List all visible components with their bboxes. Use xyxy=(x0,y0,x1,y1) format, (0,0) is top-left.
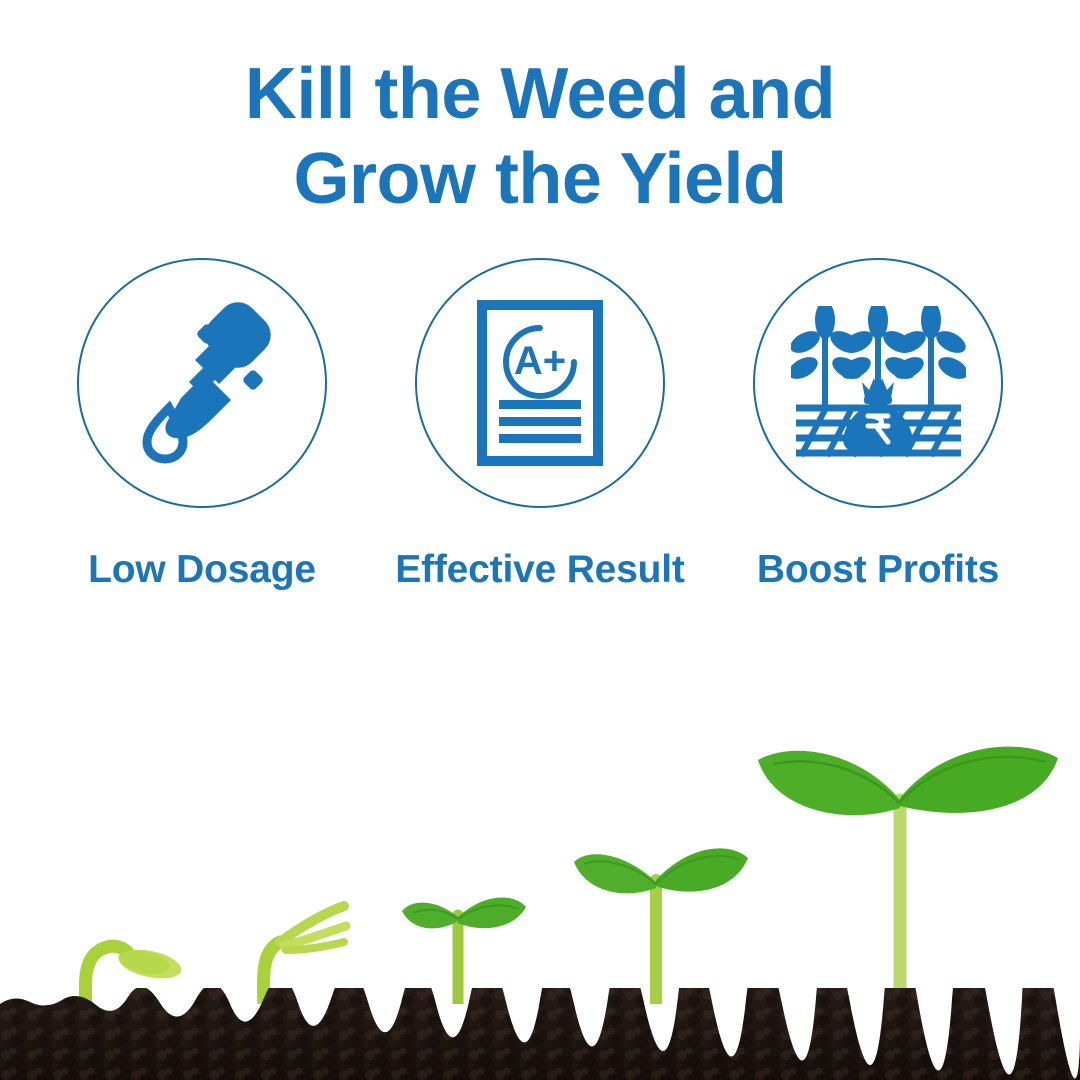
headline-line-1: Kill the Weed and xyxy=(0,52,1080,137)
feature-boost-profits[interactable]: Boost Profits xyxy=(728,258,1028,589)
sprout-stage-4 xyxy=(560,804,760,1004)
page-title: Kill the Weed and Grow the Yield xyxy=(0,52,1080,222)
feature-label-effective-result: Effective Result xyxy=(395,550,684,589)
sprout-stage-5 xyxy=(740,714,1070,1004)
seedling-growth-photo xyxy=(0,680,1080,1080)
feature-low-dosage[interactable]: Low Dosage xyxy=(52,258,352,589)
soil-band xyxy=(0,988,1080,1080)
crops-money-bag-icon xyxy=(791,306,966,461)
sprout-stage-3 xyxy=(392,859,542,1004)
feature-label-boost-profits: Boost Profits xyxy=(757,550,999,589)
feature-row: Low Dosage A+ Effective Re xyxy=(0,258,1080,589)
feature-label-low-dosage: Low Dosage xyxy=(88,550,316,589)
feature-effective-result[interactable]: A+ Effective Result xyxy=(390,258,690,589)
sprout-stage-2 xyxy=(240,884,370,1004)
dropper-icon xyxy=(127,298,277,468)
feature-icon-circle xyxy=(77,258,327,508)
feature-icon-circle: A+ xyxy=(415,258,665,508)
headline-line-2: Grow the Yield xyxy=(0,137,1080,222)
report-card-a-plus-icon: A+ xyxy=(477,300,603,466)
feature-icon-circle xyxy=(753,258,1003,508)
poster-canvas: Kill the Weed and Grow the Yield xyxy=(0,0,1080,1080)
grade-text: A+ xyxy=(514,339,566,383)
